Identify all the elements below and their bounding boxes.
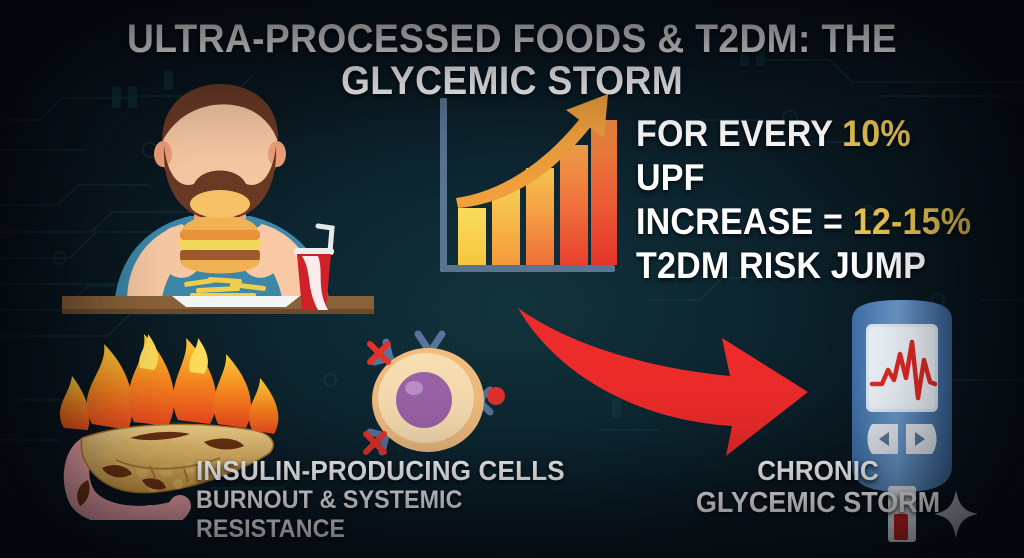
bar-4 <box>560 145 588 265</box>
caption-chronic-line1: CHRONIC <box>679 455 958 487</box>
nucleus-highlight <box>405 381 423 395</box>
stat-block: FOR EVERY 10% UPF INCREASE = 12-15% T2DM… <box>636 112 987 288</box>
bar-5 <box>591 120 617 265</box>
bar-1 <box>458 208 486 265</box>
infographic-canvas: ULTRA-PROCESSED FOODS & T2DM: THE GLYCEM… <box>0 0 1024 558</box>
burger-icon <box>178 190 262 274</box>
stat-highlight-10: 10% <box>842 113 911 154</box>
chart-y-axis <box>440 98 447 272</box>
caption-insulin: INSULIN-PRODUCING CELLS BURNOUT & SYSTEM… <box>196 455 568 544</box>
stat-line1-post: UPF <box>636 157 705 198</box>
chart-x-axis <box>440 265 615 272</box>
stat-line-2: INCREASE = 12-15% <box>636 200 987 244</box>
fries-plate-icon <box>166 276 306 308</box>
stat-line1-pre: FOR EVERY <box>636 113 842 154</box>
sparkle-icon <box>934 490 978 538</box>
stat-line-1: FOR EVERY 10% UPF <box>636 112 987 200</box>
stat-line2-pre: INCREASE = <box>636 201 853 242</box>
stat-line-3: T2DM RISK JUMP <box>636 244 987 288</box>
caption-insulin-line2: BURNOUT & SYSTEMIC RESISTANCE <box>196 486 568 544</box>
caption-chronic: CHRONIC GLYCEMIC STORM <box>679 455 958 520</box>
caption-chronic-line2: GLYCEMIC STORM <box>679 487 958 520</box>
soda-cup-icon <box>288 222 344 312</box>
flames-icon <box>60 334 278 434</box>
curved-red-arrow <box>486 296 816 471</box>
bar-chart <box>432 92 622 282</box>
cell-nucleus <box>396 372 452 428</box>
stat-highlight-range: 12-15% <box>853 201 971 242</box>
caption-insulin-line1: INSULIN-PRODUCING CELLS <box>196 455 568 486</box>
